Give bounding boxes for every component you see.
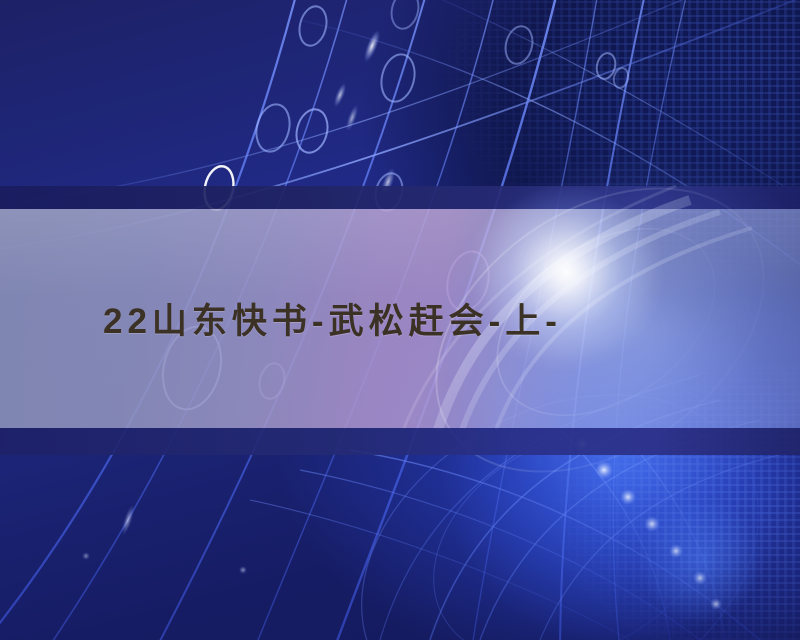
page-title: 22山东快书-武松赶会-上-: [0, 209, 800, 428]
banner-bottom-edge-bar: [0, 428, 800, 455]
banner-image: 22山东快书-武松赶会-上-: [0, 0, 800, 640]
